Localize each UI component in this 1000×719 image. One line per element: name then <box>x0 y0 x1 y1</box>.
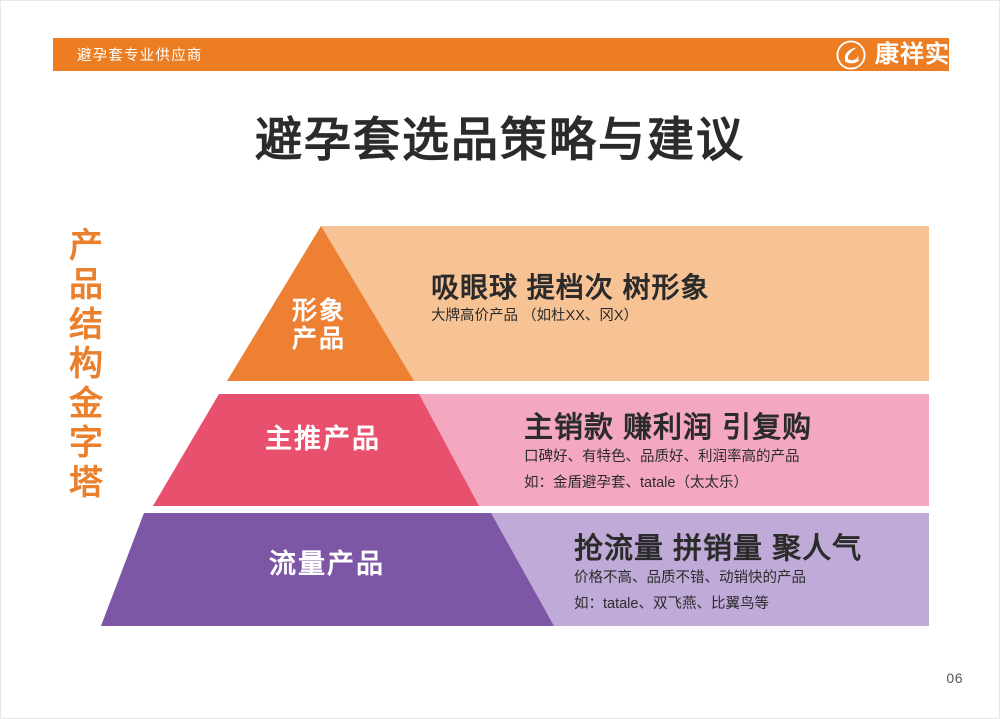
tier-3-heading: 流量产品 <box>241 549 413 579</box>
tier-3-body: 抢流量 拼销量 聚人气 价格不高、品质不错、动销快的产品 如：tatale、双飞… <box>574 532 862 617</box>
side-vertical-label: 产品结构金字塔 <box>63 227 109 503</box>
tier-2-body: 主销款 赚利润 引复购 口碑好、有特色、品质好、利润率高的产品 如：金盾避孕套、… <box>524 411 812 496</box>
tier-2-heading: 主推产品 <box>237 424 409 454</box>
header-tagline: 避孕套专业供应商 <box>77 44 203 65</box>
tier-3-main-text: 抢流量 拼销量 聚人气 <box>574 532 862 566</box>
tier-2-sub-text-1: 口碑好、有特色、品质好、利润率高的产品 <box>524 445 812 470</box>
brand-logo: 康祥实业 <box>836 39 975 70</box>
page-number: 06 <box>946 670 963 686</box>
tier-2-heading-line1: 主推产品 <box>237 424 409 454</box>
tier-3-sub-text-2: 如：tatale、双飞燕、比翼鸟等 <box>574 592 862 617</box>
brand-name: 康祥实业 <box>875 43 975 67</box>
tier-2-sub-text-2: 如：金盾避孕套、tatale（太太乐） <box>524 471 812 496</box>
tier-3-heading-line1: 流量产品 <box>241 549 413 579</box>
page-title: 避孕套选品策略与建议 <box>1 114 999 166</box>
tier-1-heading-line1: 形象 <box>263 297 375 325</box>
tier-1-main-text: 吸眼球 提档次 树形象 <box>431 271 710 304</box>
tier-1-body: 吸眼球 提档次 树形象 大牌高价产品 （如杜XX、冈X） <box>431 271 710 329</box>
tier-1-heading-line2: 产品 <box>263 325 375 353</box>
tier-1-heading: 形象 产品 <box>263 297 375 353</box>
leaf-swirl-icon <box>836 40 866 70</box>
tier-3-sub-text-1: 价格不高、品质不错、动销快的产品 <box>574 566 862 591</box>
tier-1-sub-text-1: 大牌高价产品 （如杜XX、冈X） <box>431 304 710 329</box>
tier-2-main-text: 主销款 赚利润 引复购 <box>524 411 812 445</box>
slide-canvas: 避孕套专业供应商 康祥实业 避孕套选品策略与建议 产品结构金字塔 形象 产品 吸… <box>0 0 1000 719</box>
